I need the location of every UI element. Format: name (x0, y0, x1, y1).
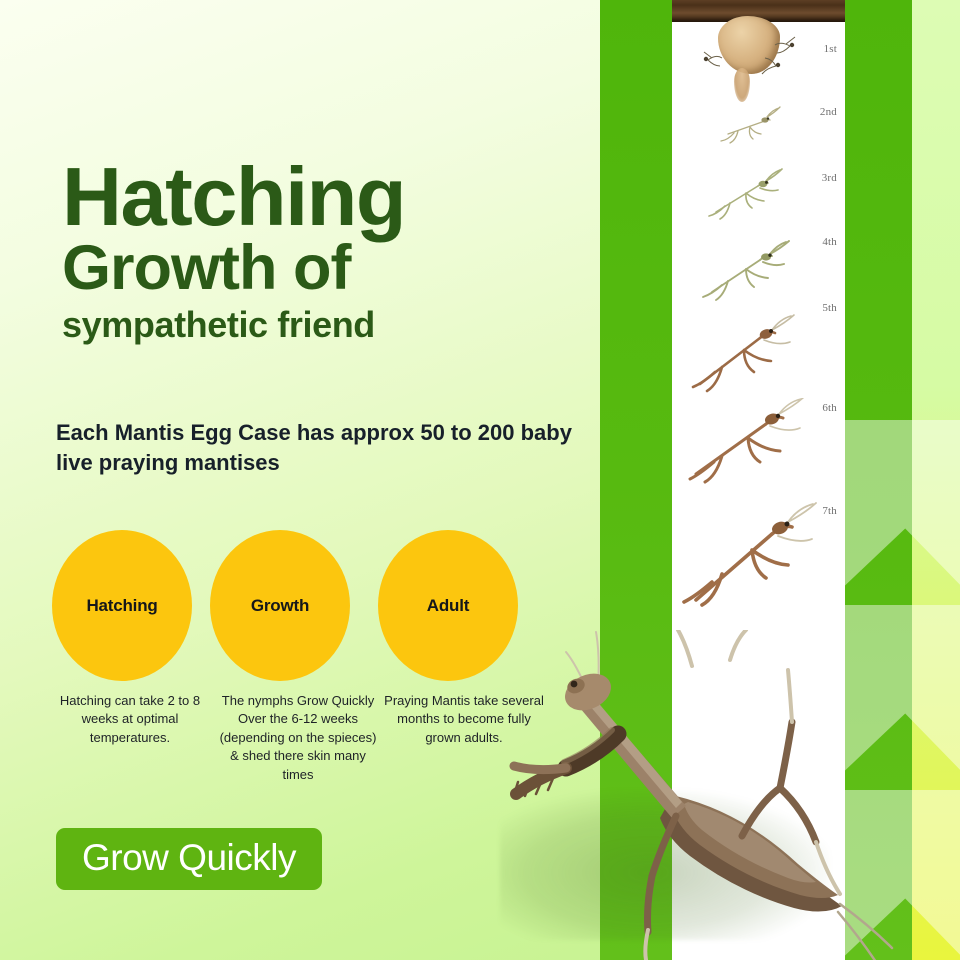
headline-line-3: sympathetic friend (62, 308, 582, 341)
instar-label-5th: 5th (822, 302, 837, 314)
infographic-poster: 1st 2nd 3rd 4th 5th 6th 7th Hatching Gro… (0, 0, 960, 960)
stage-circle-label: Hatching (86, 596, 157, 616)
instar-label-1st: 1st (824, 43, 837, 55)
instar-label-2nd: 2nd (820, 106, 837, 118)
green-band-right (845, 0, 912, 960)
stage-caption-hatching: Hatching can take 2 to 8 weeks at optima… (50, 692, 210, 747)
nymph-4th-instar (696, 240, 806, 314)
nymph-2nd-instar (710, 104, 788, 152)
headline-line-1: Hatching (62, 158, 582, 235)
instar-label-3rd: 3rd (822, 172, 837, 184)
emerging-hatchlings (672, 8, 845, 98)
stage-circle-label: Adult (427, 596, 469, 616)
nymph-5th-instar (686, 312, 816, 406)
stage-circle-label: Growth (251, 596, 309, 616)
stage-circles: Hatching Growth Adult (52, 530, 572, 690)
stage-circle-hatching[interactable]: Hatching (52, 530, 192, 681)
subheading-text: Each Mantis Egg Case has approx 50 to 20… (56, 418, 596, 477)
mantis-shadow (500, 790, 830, 940)
stage-circle-growth[interactable]: Growth (210, 530, 350, 681)
stage-caption-adult: Praying Mantis take several months to be… (384, 692, 544, 747)
nymph-7th-instar (676, 500, 836, 640)
headline-line-2: Growth of (62, 239, 582, 298)
stage-circle-adult[interactable]: Adult (378, 530, 518, 681)
instar-label-4th: 4th (822, 236, 837, 248)
pale-green-band-right (912, 0, 960, 960)
page-title: Hatching Growth of sympathetic friend (62, 158, 582, 341)
instar-label-7th: 7th (822, 505, 837, 517)
nymph-6th-instar (682, 398, 828, 502)
nymph-3rd-instar (700, 168, 796, 230)
instar-label-6th: 6th (822, 402, 837, 414)
grow-quickly-button[interactable]: Grow Quickly (56, 828, 322, 890)
stage-caption-growth: The nymphs Grow Quickly Over the 6-12 we… (218, 692, 378, 784)
